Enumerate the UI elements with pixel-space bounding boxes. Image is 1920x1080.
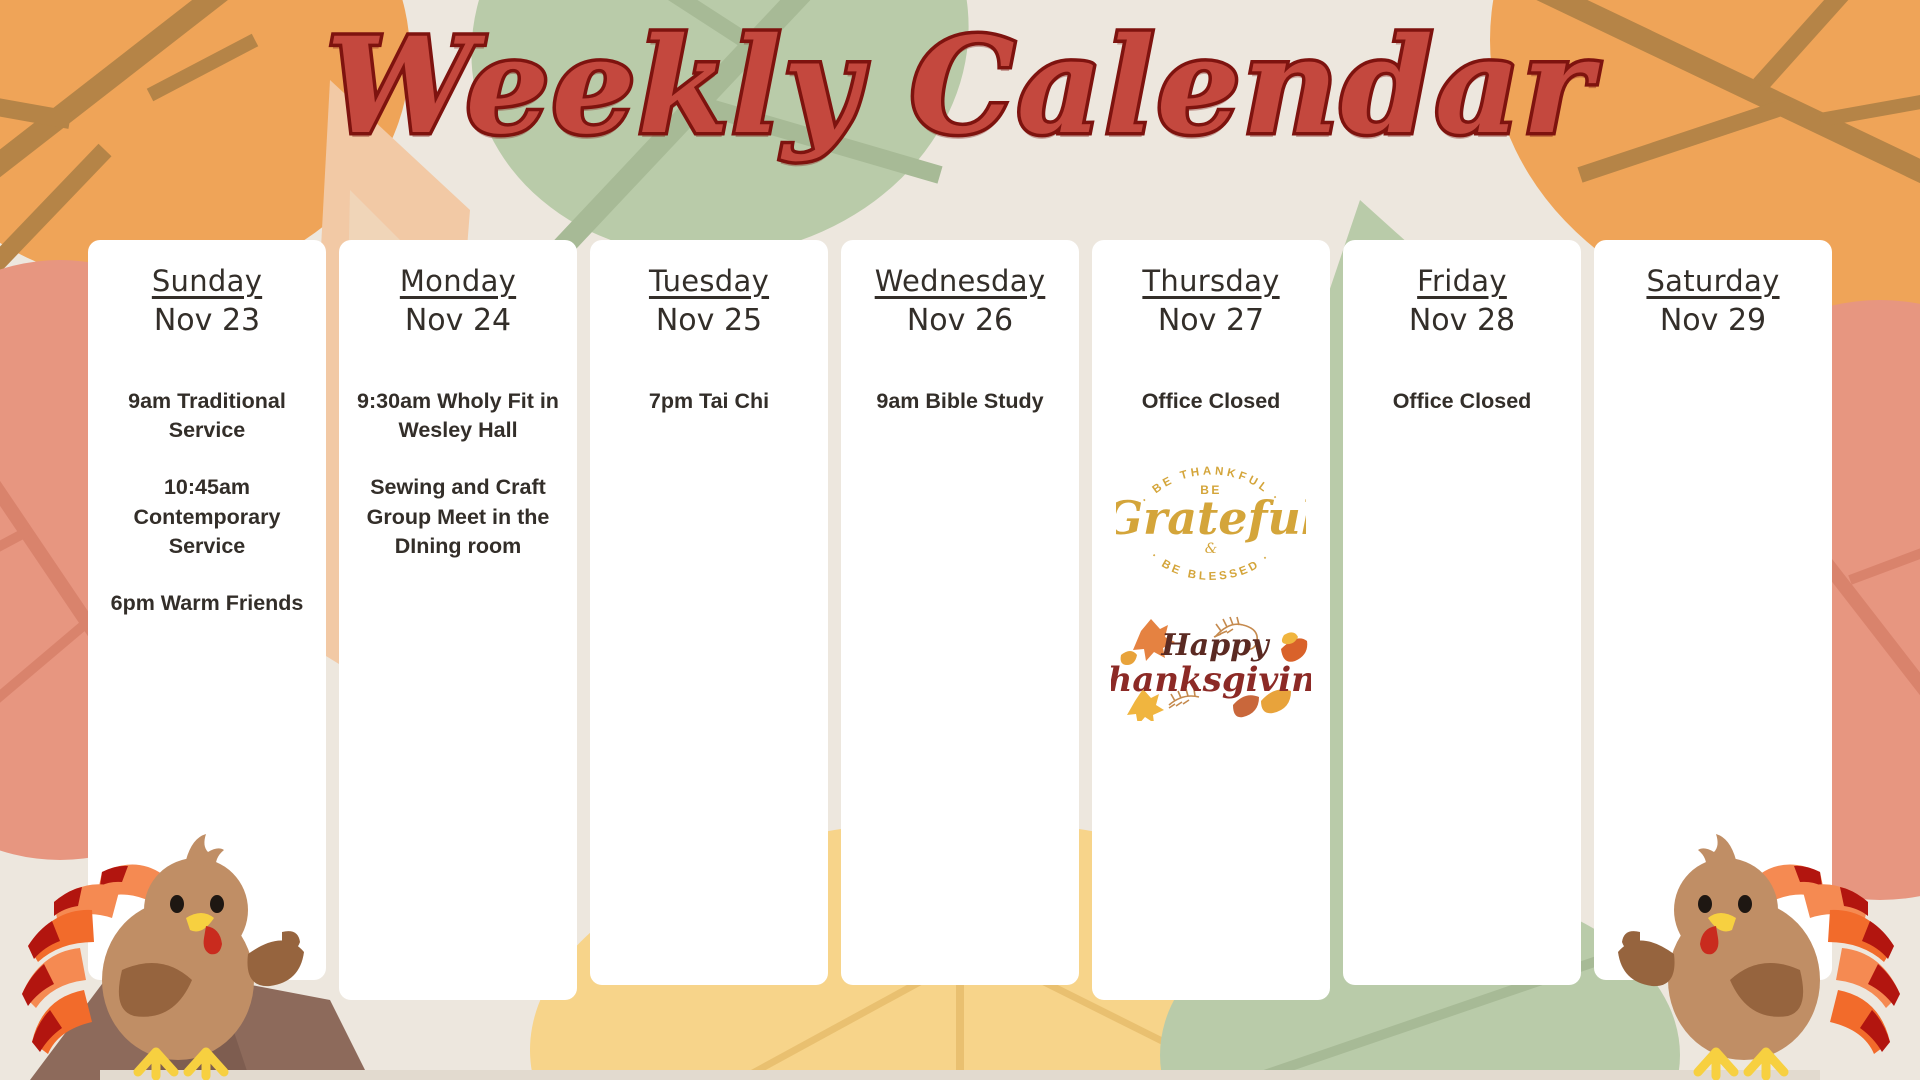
day-date-saturday: Nov 29 xyxy=(1606,303,1820,339)
event-item[interactable]: 9am Traditional Service xyxy=(100,387,314,446)
day-date-friday: Nov 28 xyxy=(1355,303,1569,339)
events-sunday: 9am Traditional Service 10:45am Contempo… xyxy=(100,387,314,619)
day-card-monday[interactable]: Monday Nov 24 9:30am Wholy Fit in Wesley… xyxy=(339,240,577,1000)
art-line-thanksgiving: Thanksgiving xyxy=(1111,660,1311,700)
event-item[interactable]: Sewing and Craft Group Meet in the DInin… xyxy=(351,473,565,562)
event-item[interactable]: 9:30am Wholy Fit in Wesley Hall xyxy=(351,387,565,446)
day-date-sunday: Nov 23 xyxy=(100,303,314,339)
day-date-wednesday: Nov 26 xyxy=(853,303,1067,339)
day-name-friday: Friday xyxy=(1355,264,1569,299)
day-date-tuesday: Nov 25 xyxy=(602,303,816,339)
week-grid: Sunday Nov 23 9am Traditional Service 10… xyxy=(88,240,1832,1000)
badge-line-amp: & xyxy=(1205,541,1217,557)
badge-line-grateful: Grateful xyxy=(1116,491,1306,545)
event-item[interactable]: Office Closed xyxy=(1104,387,1318,417)
day-card-wednesday[interactable]: Wednesday Nov 26 9am Bible Study xyxy=(841,240,1079,985)
event-item[interactable]: 10:45am Contemporary Service xyxy=(100,473,314,562)
events-monday: 9:30am Wholy Fit in Wesley Hall Sewing a… xyxy=(351,387,565,562)
grateful-badge-icon: · BE THANKFUL · BE Grateful & · BE BLESS… xyxy=(1116,452,1306,582)
day-name-tuesday: Tuesday xyxy=(602,264,816,299)
day-name-monday: Monday xyxy=(351,264,565,299)
art-line-happy: Happy xyxy=(1160,628,1271,663)
day-name-wednesday: Wednesday xyxy=(853,264,1067,299)
event-item[interactable]: 9am Bible Study xyxy=(853,387,1067,417)
event-item[interactable]: 7pm Tai Chi xyxy=(602,387,816,417)
day-card-tuesday[interactable]: Tuesday Nov 25 7pm Tai Chi xyxy=(590,240,828,985)
day-name-thursday: Thursday xyxy=(1104,264,1318,299)
day-date-thursday: Nov 27 xyxy=(1104,303,1318,339)
day-date-monday: Nov 24 xyxy=(351,303,565,339)
event-item[interactable]: 6pm Warm Friends xyxy=(100,589,314,619)
events-thursday: Office Closed xyxy=(1104,387,1318,417)
turkey-icon-left xyxy=(10,830,310,1080)
event-item[interactable]: Office Closed xyxy=(1355,387,1569,417)
day-card-friday[interactable]: Friday Nov 28 Office Closed xyxy=(1343,240,1581,985)
turkey-icon-right xyxy=(1612,830,1912,1080)
weekly-calendar-poster: Weekly Calendar Sunday Nov 23 9am Tradit… xyxy=(0,0,1920,1080)
day-name-sunday: Sunday xyxy=(100,264,314,299)
events-tuesday: 7pm Tai Chi xyxy=(602,387,816,417)
happy-thanksgiving-icon: Happy Thanksgiving xyxy=(1111,609,1311,721)
day-name-saturday: Saturday xyxy=(1606,264,1820,299)
events-wednesday: 9am Bible Study xyxy=(853,387,1067,417)
day-card-thursday[interactable]: Thursday Nov 27 Office Closed · BE THANK… xyxy=(1092,240,1330,1000)
events-friday: Office Closed xyxy=(1355,387,1569,417)
